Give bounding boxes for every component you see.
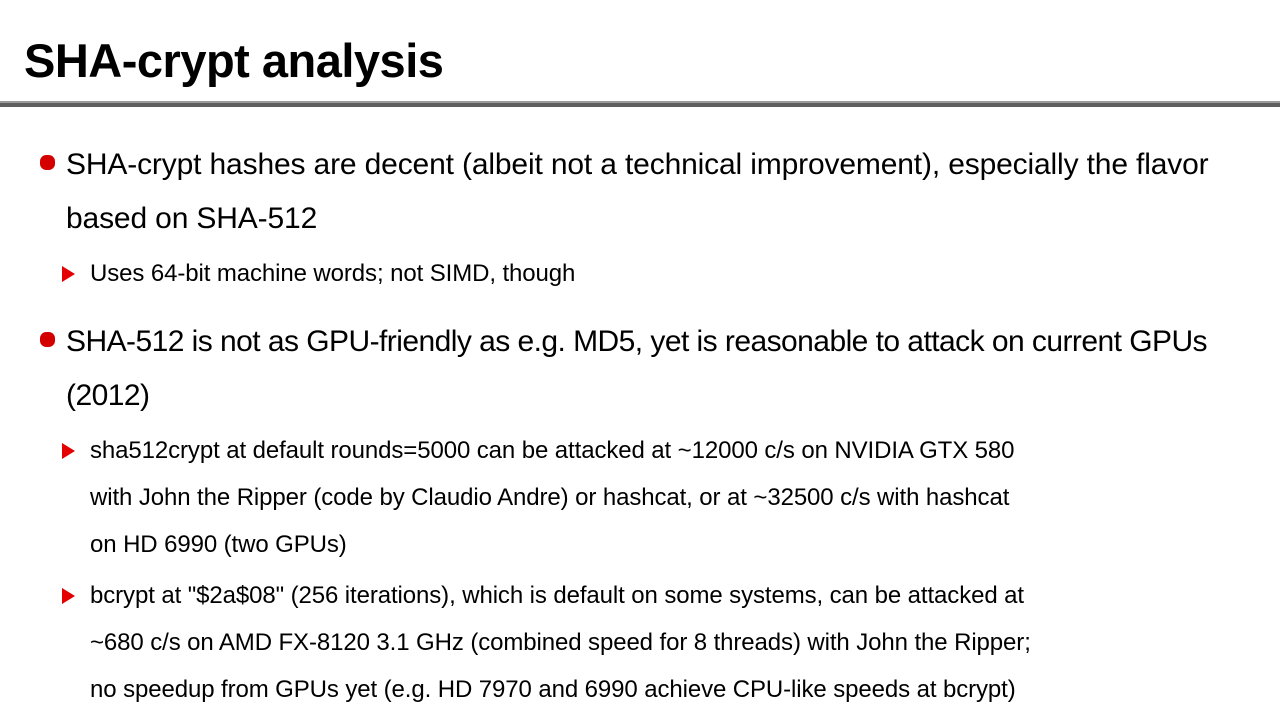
sub-bullet-list: sha512crypt at default rounds=5000 can b… [0,427,1280,713]
slide-title: SHA-crypt analysis [24,36,443,85]
bullet-level2: Uses 64-bit machine words; not SIMD, tho… [0,250,1280,297]
red-triangle-bullet-icon [62,266,75,282]
bullet-line: on HD 6990 (two GPUs) [88,521,1240,568]
sub-bullet-list: Uses 64-bit machine words; not SIMD, tho… [0,250,1280,297]
red-triangle-bullet-icon [62,588,75,604]
bullet-line: sha512crypt at default rounds=5000 can b… [88,427,1240,474]
bullet-level2-text: Uses 64-bit machine words; not SIMD, tho… [88,250,1240,297]
bullet-level1: SHA-512 is not as GPU-friendly as e.g. M… [0,315,1280,423]
bullet-level2: bcrypt at "$2a$08" (256 iterations), whi… [0,572,1280,713]
bullet-line: with John the Ripper (code by Claudio An… [88,474,1240,521]
bullet-level1: SHA-crypt hashes are decent (albeit not … [0,138,1280,246]
slide-body: SHA-crypt hashes are decent (albeit not … [0,118,1280,713]
bullet-level1-text: SHA-512 is not as GPU-friendly as e.g. M… [66,315,1264,423]
bullet-level2: sha512crypt at default rounds=5000 can b… [0,427,1280,568]
title-divider-bottom-edge [0,103,1280,107]
bullet-line: no speedup from GPUs yet (e.g. HD 7970 a… [88,666,1240,713]
bullet-line: Uses 64-bit machine words; not SIMD, tho… [88,250,1240,297]
bullet-line: ~680 c/s on AMD FX-8120 3.1 GHz (combine… [88,619,1240,666]
red-dot-bullet-icon [40,155,55,170]
red-triangle-bullet-icon [62,443,75,459]
bullet-level2-text: sha512crypt at default rounds=5000 can b… [88,427,1240,568]
title-divider-rule [0,101,1280,107]
bullet-level1-text: SHA-crypt hashes are decent (albeit not … [66,138,1264,246]
bullet-level2-text: bcrypt at "$2a$08" (256 iterations), whi… [88,572,1240,713]
bullet-line: bcrypt at "$2a$08" (256 iterations), whi… [88,572,1240,619]
red-dot-bullet-icon [40,332,55,347]
presentation-slide: SHA-crypt analysis SHA-crypt hashes are … [0,0,1280,720]
